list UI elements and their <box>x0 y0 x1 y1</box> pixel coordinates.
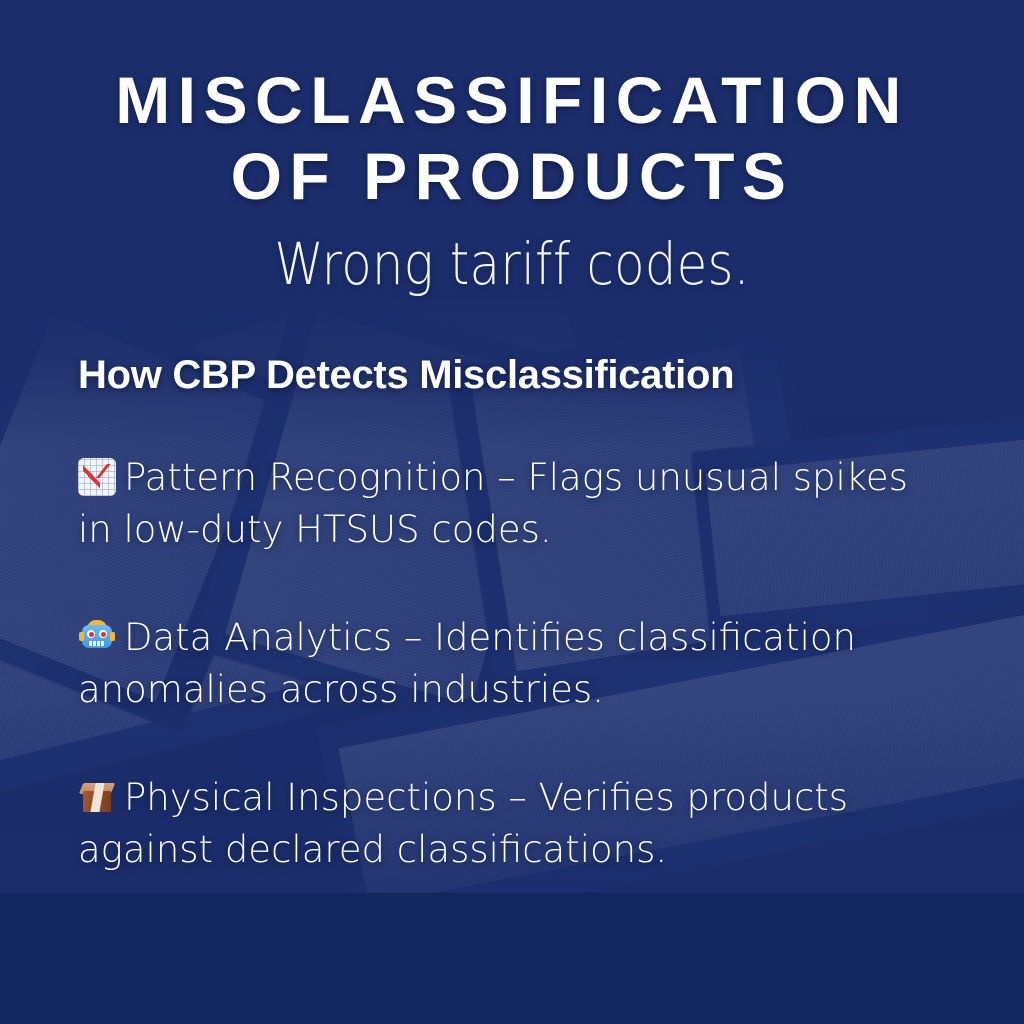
bullet-list: Pattern Recognition – Flags unusual spik… <box>78 452 946 876</box>
bullet-text: Pattern Recognition – Flags unusual spik… <box>78 456 908 551</box>
page-title: MISCLASSIFICATION OF PRODUCTS <box>0 62 1024 214</box>
list-item: Pattern Recognition – Flags unusual spik… <box>78 452 946 556</box>
chart-increasing-icon <box>78 458 116 496</box>
list-item: Data Analytics – Identifies classificati… <box>78 612 946 716</box>
bullet-text: Data Analytics – Identifies classificati… <box>78 616 856 711</box>
subtitle: Wrong tariff codes. <box>72 228 953 300</box>
social-graphic-canvas: MISCLASSIFICATION OF PRODUCTS Wrong tari… <box>0 0 1024 1024</box>
bullet-text: Physical Inspections – Verifies products… <box>78 776 848 871</box>
title-line-1: MISCLASSIFICATION <box>0 62 1024 138</box>
package-icon <box>78 778 116 816</box>
content-layer: MISCLASSIFICATION OF PRODUCTS Wrong tari… <box>0 0 1024 1024</box>
robot-icon <box>78 618 116 656</box>
section-heading: How CBP Detects Misclassification <box>78 350 734 400</box>
title-line-2: OF PRODUCTS <box>0 138 1024 214</box>
list-item: Physical Inspections – Verifies products… <box>78 772 946 876</box>
